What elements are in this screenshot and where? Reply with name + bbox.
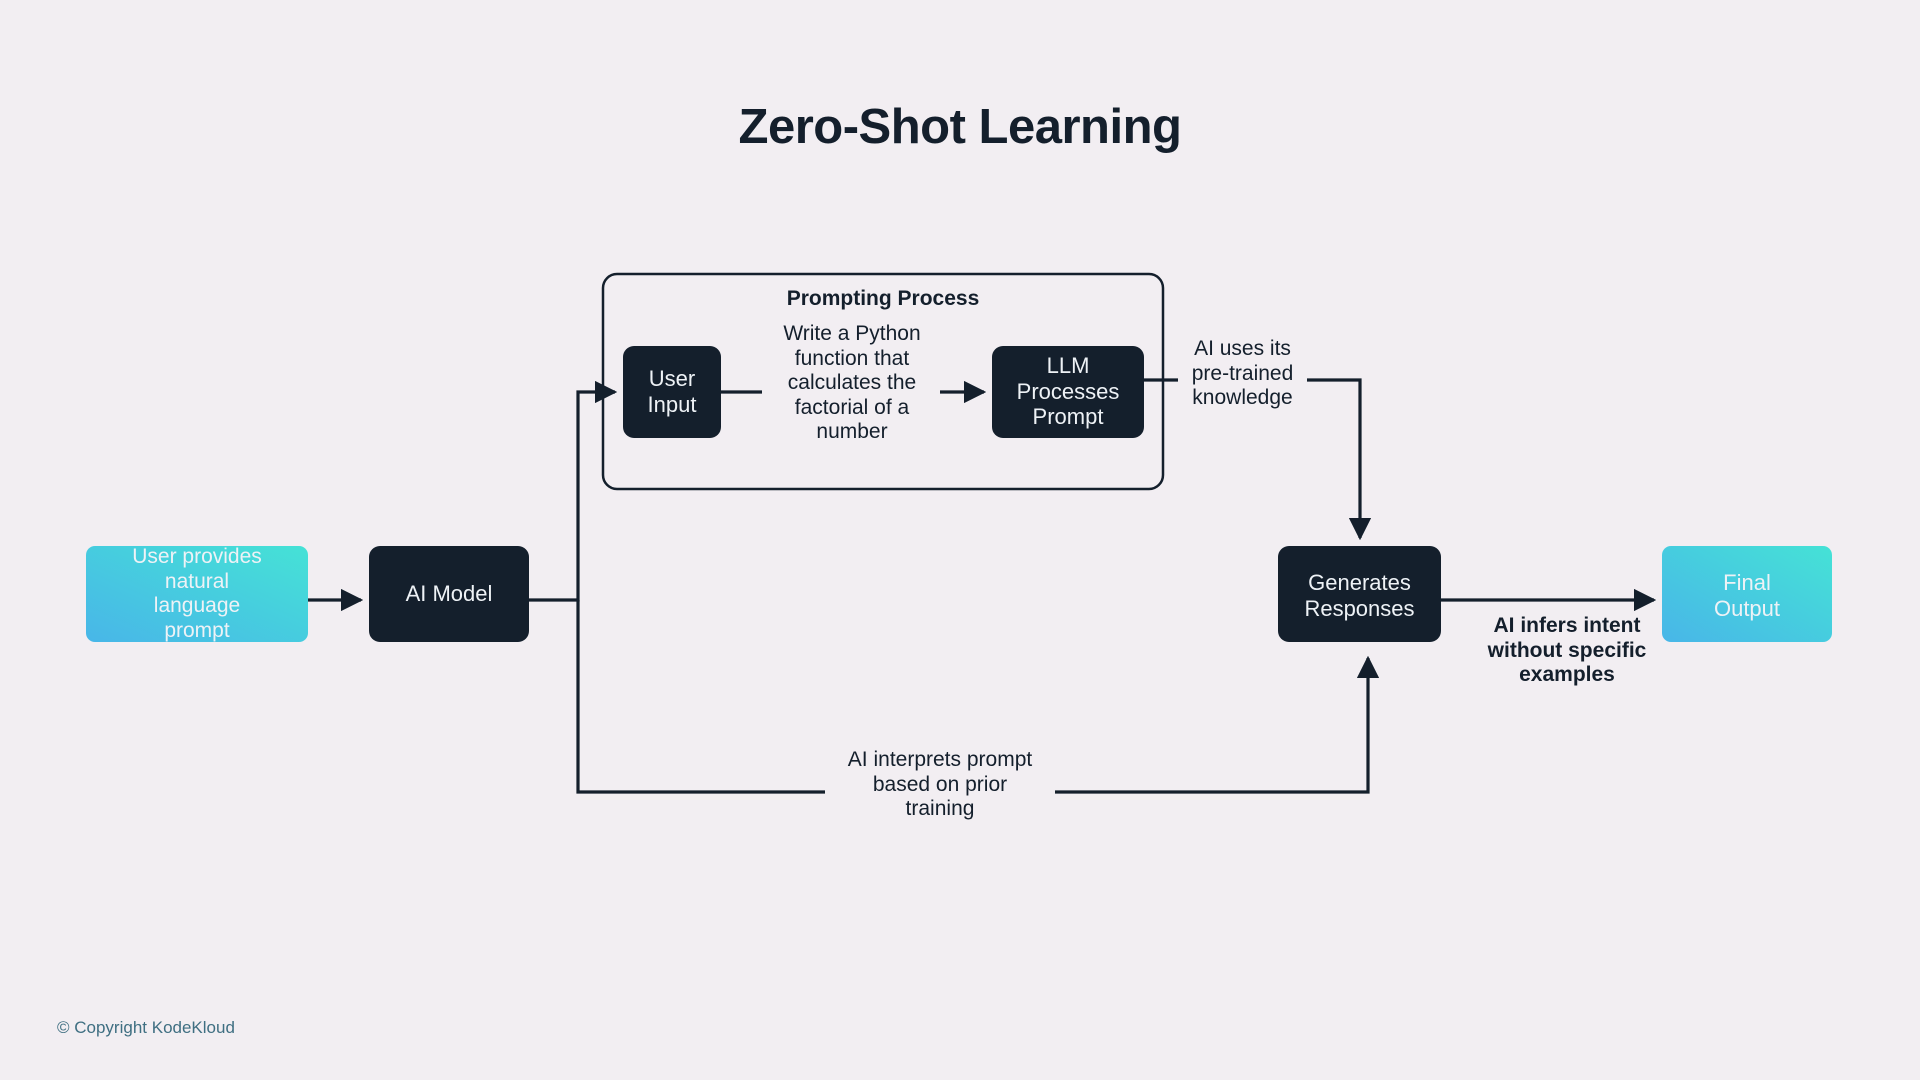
node-user-input[interactable]: [623, 346, 721, 438]
node-ai-model[interactable]: [369, 546, 529, 642]
edge-llm-to-generates: [1144, 380, 1360, 538]
node-user-prompt[interactable]: [86, 546, 308, 642]
node-final-output[interactable]: [1662, 546, 1832, 642]
copyright-text: © Copyright KodeKloud: [57, 1019, 235, 1036]
subgraph-title: Prompting Process: [603, 288, 1163, 309]
page-title: Zero-Shot Learning: [0, 103, 1920, 152]
node-llm-processes[interactable]: [992, 346, 1144, 438]
diagram-canvas: Zero-Shot Learning Prompting Process Use…: [0, 0, 1920, 1080]
flowchart-graphics: [0, 0, 1920, 1080]
node-generates-responses[interactable]: [1278, 546, 1441, 642]
edge-model-to-generates: [578, 600, 1368, 792]
